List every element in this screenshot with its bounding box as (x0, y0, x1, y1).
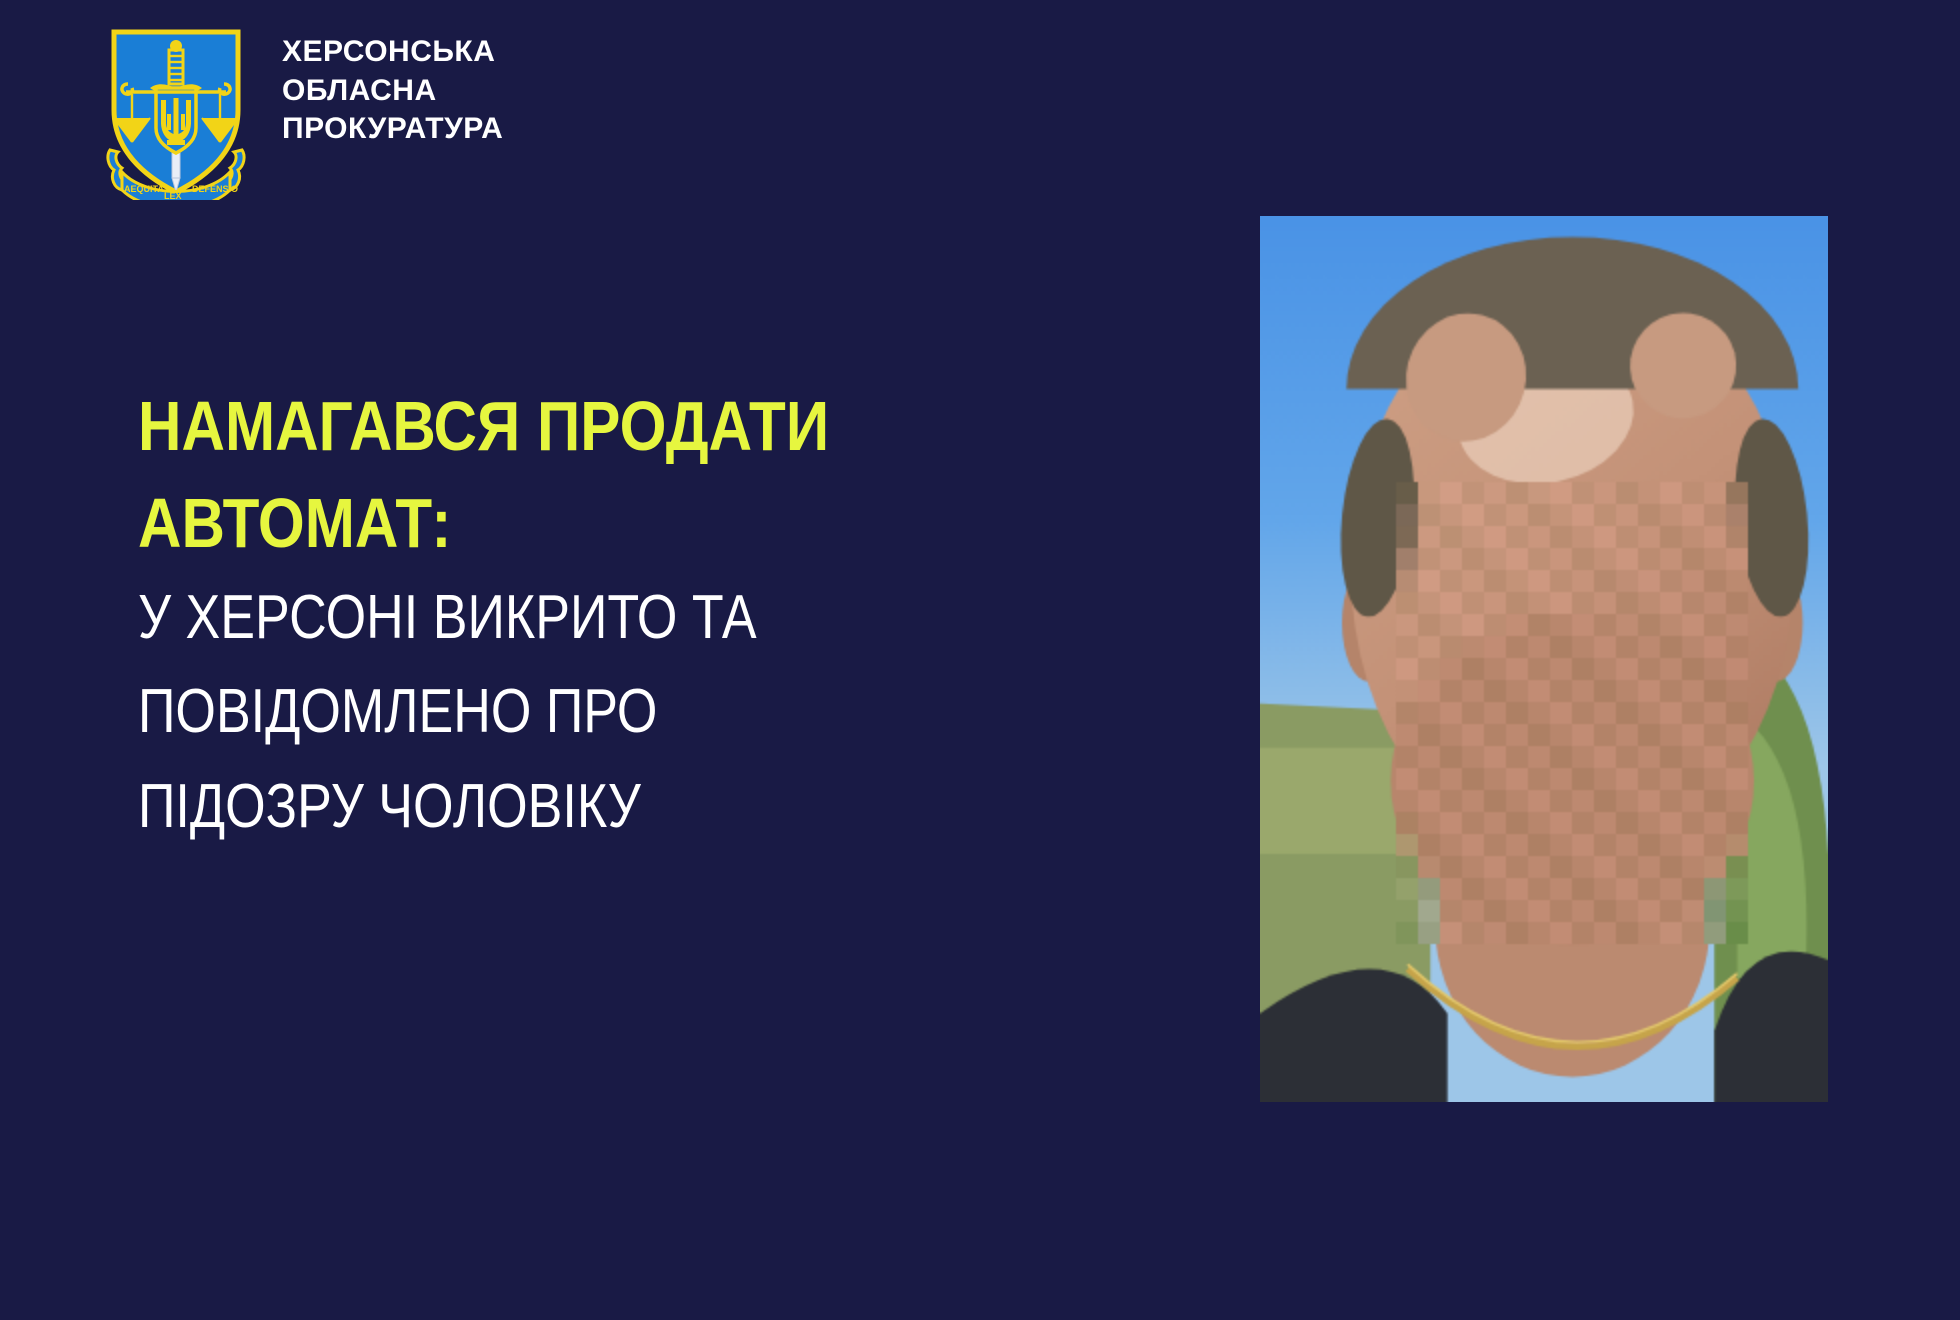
brand-title: ХЕРСОНСЬКА ОБЛАСНА ПРОКУРАТУРА (282, 34, 503, 148)
motto-defensio: DEFENSIO (192, 184, 238, 194)
suspect-photo-canvas (1260, 216, 1828, 1102)
headline-plain-line-2: ПОВІДОМЛЕНО ПРО (138, 665, 827, 759)
headline-accent-line-2: АВТОМАТ: (138, 475, 843, 572)
brand-line-3: ПРОКУРАТУРА (282, 111, 503, 148)
brand-line-2: ОБЛАСНА (282, 73, 503, 110)
suspect-photo (1260, 216, 1828, 1102)
brand-header: AEQUITAS LEX DEFENSIO ХЕРСОНСЬКА ОБЛАСНА… (96, 22, 503, 200)
brand-line-1: ХЕРСОНСЬКА (282, 34, 503, 71)
headline-plain-line-1: У ХЕРСОНІ ВИКРИТО ТА (138, 571, 827, 665)
headline-block: НАМАГАВСЯ ПРОДАТИ АВТОМАТ: У ХЕРСОНІ ВИК… (138, 378, 958, 854)
headline-accent-line-1: НАМАГАВСЯ ПРОДАТИ (138, 378, 843, 475)
motto-aequitas: AEQUITAS (124, 184, 170, 194)
prosecutors-office-coat-of-arms-icon: AEQUITAS LEX DEFENSIO (96, 22, 256, 200)
motto-lex: LEX (164, 191, 182, 200)
headline-plain-line-3: ПІДОЗРУ ЧОЛОВІКУ (138, 760, 827, 854)
news-card: AEQUITAS LEX DEFENSIO ХЕРСОНСЬКА ОБЛАСНА… (0, 0, 1960, 1320)
